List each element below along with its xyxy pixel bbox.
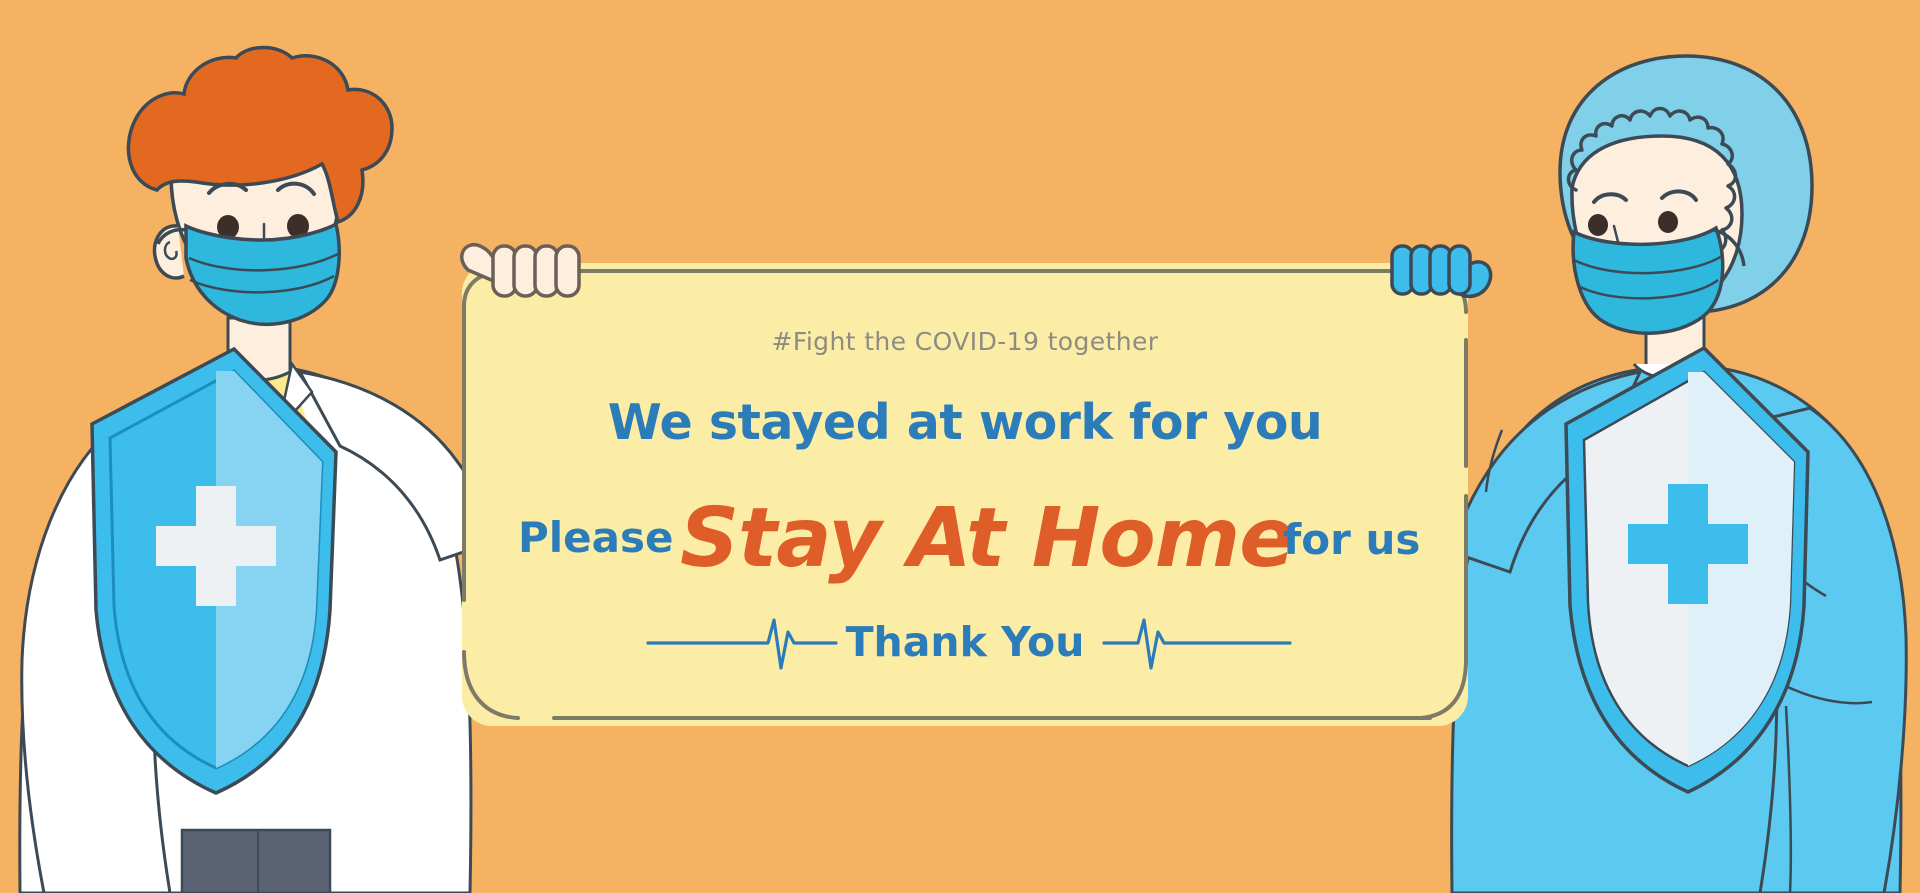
banner-emphasis: Stay At Home xyxy=(680,491,1294,586)
left-finger-4 xyxy=(556,246,579,296)
banner-thanks: Thank You xyxy=(846,618,1085,666)
banner-for-us-label: for us xyxy=(1283,515,1420,564)
right-finger-4 xyxy=(1449,246,1470,294)
right-hand-grip xyxy=(1392,246,1491,296)
banner-headline: We stayed at work for you xyxy=(608,394,1323,451)
banner-hashtag: #Fight the COVID-19 together xyxy=(772,327,1159,356)
banner-layer: #Fight the COVID-19 together We stayed a… xyxy=(0,0,1920,893)
banner-please-label: Please xyxy=(518,513,674,562)
covid-stay-at-home-poster: #Fight the COVID-19 together We stayed a… xyxy=(0,0,1920,893)
